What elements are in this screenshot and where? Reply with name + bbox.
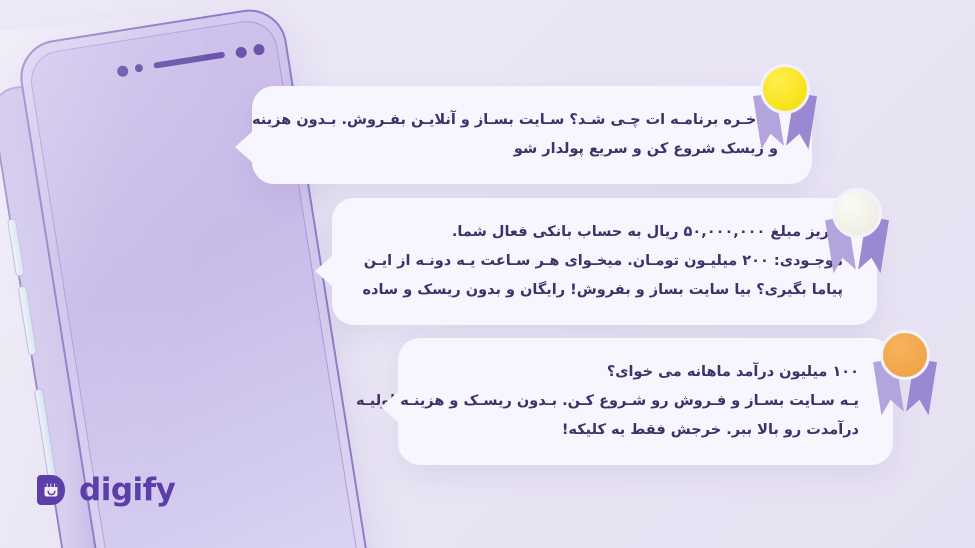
- chat-bubble-1: بالاخـره برنامـه ات چـی شـد؟ سـایت بسـاز…: [252, 86, 812, 184]
- poster-canvas: بالاخـره برنامـه ات چـی شـد؟ سـایت بسـاز…: [0, 0, 975, 548]
- chat-bubble-2: واریز مبلغ ۵۰,۰۰۰,۰۰۰ ریال به حساب بانکی…: [332, 198, 877, 325]
- chat-bubble-3-line-2: یـه سـایت بسـاز و فـروش رو شـروع کـن. بـ…: [442, 387, 859, 416]
- chat-bubble-1-line-2: و ریسک شروع کن و سریع پولدار شو: [296, 135, 778, 164]
- medal-disc: [760, 64, 810, 114]
- storefront-in-rounded-d-icon: [34, 472, 70, 508]
- phone-side-button-mute: [7, 218, 25, 277]
- earpiece-speaker-icon: [153, 52, 225, 69]
- silver-medal-icon: [824, 188, 890, 280]
- phone-side-button-volume-up: [18, 285, 38, 356]
- medal-disc: [832, 188, 882, 238]
- brand-wordmark: digify: [79, 475, 175, 506]
- gold-medal-icon: [752, 64, 818, 156]
- chat-bubble-1-line-1: بالاخـره برنامـه ات چـی شـد؟ سـایت بسـاز…: [296, 106, 778, 135]
- chat-bubble-2-line-2: موجـودی: ۲۰۰ میلیـون تومـان. میخـوای هـر…: [376, 247, 843, 276]
- ir-blaster-icon: [116, 64, 129, 77]
- chat-bubble-3: ۱۰۰ میلیون درآمد ماهانه می خوای؟ یـه سـا…: [398, 338, 893, 465]
- chat-bubble-1-tail: [235, 130, 254, 164]
- medal-disc: [880, 330, 930, 380]
- phone-notch-bar: [60, 35, 267, 93]
- chat-bubble-3-line-3: درآمدت رو بالا ببر. خرجش فقط یه کلیکه!: [442, 416, 859, 445]
- chat-bubble-2-line-3: پیاما بگیری؟ بیا سایت بساز و بفروش! رایگ…: [376, 276, 843, 305]
- brand-logo[interactable]: digify: [34, 472, 175, 508]
- chat-bubble-2-tail: [315, 254, 334, 288]
- chat-bubble-3-line-1: ۱۰۰ میلیون درآمد ماهانه می خوای؟: [442, 358, 859, 387]
- chat-bubble-2-line-1: واریز مبلغ ۵۰,۰۰۰,۰۰۰ ریال به حساب بانکی…: [376, 218, 843, 247]
- bronze-medal-icon: [872, 330, 938, 422]
- proximity-sensor-icon: [235, 46, 248, 59]
- light-sensor-icon: [134, 64, 143, 73]
- front-camera-icon: [253, 43, 266, 56]
- chat-bubble-3-tail: [381, 390, 400, 424]
